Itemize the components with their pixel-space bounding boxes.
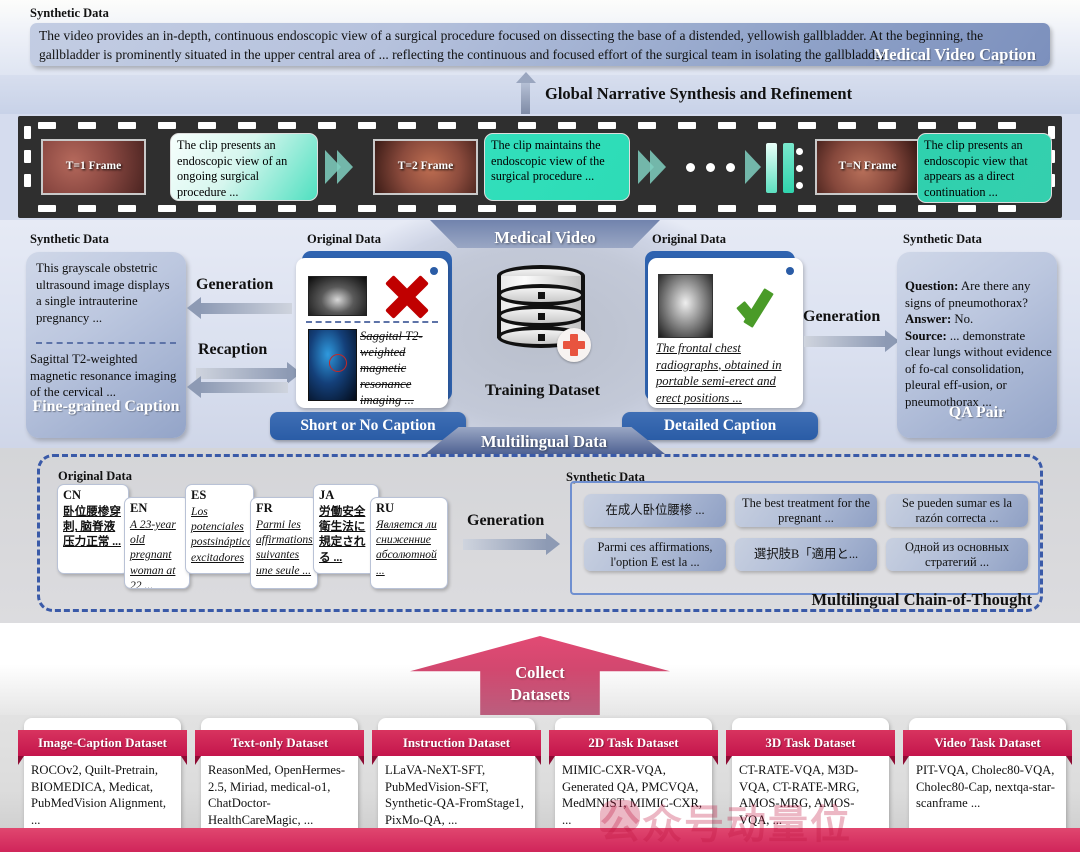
medical-video-caption-box: The video provides an in-depth, continuo…	[30, 23, 1050, 66]
dataset-card-video-task[interactable]: Video Task Dataset PIT-VQA, Cholec80-VQA…	[909, 718, 1066, 840]
fine-grained-caption-panel: This grayscale obstetric ultrasound imag…	[26, 252, 186, 438]
lang-card-en[interactable]: EN A 23-year old pregnant woman at 22 ..…	[124, 497, 190, 589]
fine-grained-caption-title: Fine-grained Caption	[26, 396, 186, 417]
qa-answer-text: No.	[951, 312, 973, 326]
lang-card-cn[interactable]: CN 卧位腰椮穿刺, 脑脊液压力正常 ...	[57, 484, 129, 574]
qa-answer-label: Answer:	[905, 312, 951, 326]
detailed-caption-tag: Detailed Caption	[622, 412, 818, 440]
training-dataset-label: Training Dataset	[455, 382, 630, 400]
check-mark-icon	[738, 284, 784, 326]
clip-caption-n: The clip presents an endoscopic view tha…	[917, 133, 1052, 203]
video-frame-2: T=2 Frame	[373, 139, 478, 195]
synth-chip-6: Одной из основных стратегий ...	[886, 538, 1028, 571]
lang-code-ja: JA	[319, 488, 373, 503]
generation-label-left: Generation	[196, 276, 273, 294]
generation-arrow-multilingual	[463, 539, 547, 550]
label-original-data-right: Original Data	[652, 232, 726, 247]
dataset-items-3: LLaVA-NeXT-SFT, PubMedVision-SFT, Synthe…	[385, 762, 529, 828]
global-narrative-zone: Global Narrative Synthesis and Refinemen…	[0, 75, 1080, 114]
global-narrative-label: Global Narrative Synthesis and Refinemen…	[545, 84, 852, 104]
ultrasound-thumbnail	[308, 276, 367, 316]
short-or-no-caption-tag: Short or No Caption	[270, 412, 466, 440]
clip-caption-1: The clip presents an endoscopic view of …	[170, 133, 318, 201]
dataset-card-3d-task[interactable]: 3D Task Dataset CT-RATE-VQA, M3D-VQA, CT…	[732, 718, 889, 840]
lang-code-cn: CN	[63, 488, 123, 503]
lang-text-cn: 卧位腰椮穿刺, 脑脊液压力正常 ...	[63, 504, 123, 550]
divider-dashed-left	[36, 342, 176, 344]
recaption-label-left: Recaption	[198, 341, 267, 359]
dataset-card-image-caption[interactable]: Image-Caption Dataset ROCOv2, Quilt-Pret…	[24, 718, 181, 840]
multilingual-cot-label: Multilingual Chain-of-Thought	[811, 590, 1032, 610]
medical-cross-icon	[557, 328, 591, 362]
short-caption-text: Saggital T2-weighted magnetic resonance …	[360, 328, 440, 408]
x-mark-icon	[384, 274, 430, 320]
qa-source-label: Source:	[905, 329, 947, 343]
generation-label-multilingual: Generation	[467, 512, 544, 530]
dataset-title-5: 3D Task Dataset	[726, 730, 895, 756]
label-synthetic-data-top: Synthetic Data	[30, 6, 109, 21]
dataset-items-6: PIT-VQA, Cholec80-VQA, Cholec80-Cap, nex…	[916, 762, 1060, 812]
collect-line-1: Collect	[515, 663, 564, 682]
dataset-card-text-only[interactable]: Text-only Dataset ReasonMed, OpenHermes-…	[201, 718, 358, 840]
dataset-title-3: Instruction Dataset	[372, 730, 541, 756]
synth-chip-1: 在成人卧位腰椮 ...	[584, 494, 726, 527]
generation-arrow-right	[804, 336, 886, 347]
fine-grained-text-1: This grayscale obstetric ultrasound imag…	[36, 260, 178, 326]
mri-annotation-circle	[329, 354, 347, 372]
lang-text-en: A 23-year old pregnant woman at 22 ...	[130, 517, 184, 589]
clip-caption-2: The clip maintains the endoscopic view o…	[484, 133, 630, 201]
label-synthetic-data-left: Synthetic Data	[30, 232, 109, 247]
recaption-arrow-left	[200, 382, 288, 393]
frame-n-label: T=N Frame	[817, 160, 918, 172]
lang-card-es[interactable]: ES Los potenciales postsinápticos excita…	[185, 484, 254, 574]
fine-grained-text-2: Sagittal T2-weighted magnetic resonance …	[30, 351, 184, 401]
detailed-caption-text: The frontal chest radiographs, obtained …	[656, 340, 796, 406]
lang-code-fr: FR	[256, 501, 312, 516]
mri-thumbnail	[308, 329, 357, 401]
filmstrip: T=1 Frame The clip presents an endoscopi…	[18, 116, 1062, 218]
lang-card-fr[interactable]: FR Parmi les affirmations suivantes une …	[250, 497, 318, 589]
recaption-arrow-right	[196, 368, 288, 379]
label-original-data-left: Original Data	[307, 232, 381, 247]
figure-root: Synthetic Data The video provides an in-…	[0, 0, 1080, 852]
training-dataset-icon	[497, 265, 585, 353]
qa-pair-title: QA Pair	[897, 404, 1057, 422]
lang-text-ja: 労働安全衛生法に規定される ...	[319, 504, 373, 565]
filmstrip-zone: T=1 Frame The clip presents an endoscopi…	[0, 114, 1080, 220]
synth-chip-3: Se pueden sumar es la razón correcta ...	[886, 494, 1028, 527]
dataset-items-1: ROCOv2, Quilt-Pretrain, BIOMEDICA, Medic…	[31, 762, 175, 828]
bottom-red-band	[0, 828, 1080, 852]
qa-pair-panel: Question: Are there any signs of pneumot…	[897, 252, 1057, 438]
status-dot-icon-left	[430, 267, 438, 275]
top-caption-zone: Synthetic Data The video provides an in-…	[0, 0, 1080, 75]
synth-chip-5: 選択肢B「適用と...	[735, 538, 877, 571]
original-data-card-left: Saggital T2-weighted magnetic resonance …	[296, 258, 448, 408]
lang-code-es: ES	[191, 488, 248, 503]
lang-code-ru: RU	[376, 501, 442, 516]
video-frame-n: T=N Frame	[815, 139, 920, 195]
dataset-title-1: Image-Caption Dataset	[18, 730, 187, 756]
dataset-items-2: ReasonMed, OpenHermes-2.5, Miriad, medic…	[208, 762, 352, 828]
lang-card-ru[interactable]: RU Является ли сниженние абсолютной ...	[370, 497, 448, 589]
generation-arrow-left	[200, 303, 292, 314]
lang-text-ru: Является ли сниженние абсолютной ...	[376, 517, 442, 578]
upward-arrow-icon	[521, 81, 530, 114]
multilingual-data-label: Multilingual Data	[444, 432, 644, 452]
frame-2-label: T=2 Frame	[375, 160, 476, 172]
medical-video-caption-badge: Medical Video Caption	[874, 45, 1036, 65]
label-synthetic-data-right: Synthetic Data	[903, 232, 982, 247]
dataset-title-4: 2D Task Dataset	[549, 730, 718, 756]
divider-dashed-card-left	[306, 321, 438, 323]
status-dot-icon-right	[786, 267, 794, 275]
dataset-title-2: Text-only Dataset	[195, 730, 364, 756]
lang-text-fr: Parmi les affirmations suivantes une seu…	[256, 517, 312, 578]
video-frame-1: T=1 Frame	[41, 139, 146, 195]
generation-label-right: Generation	[803, 308, 880, 326]
medical-video-label: Medical Video	[470, 228, 620, 248]
synth-chip-4: Parmi ces affirmations, l'option E est l…	[584, 538, 726, 571]
synth-chip-2: The best treatment for the pregnant ...	[735, 494, 877, 527]
dataset-title-6: Video Task Dataset	[903, 730, 1072, 756]
qa-question-label: Question:	[905, 279, 958, 293]
collect-datasets-label: Collect Datasets	[410, 662, 670, 706]
lang-code-en: EN	[130, 501, 184, 516]
dataset-items-5: CT-RATE-VQA, M3D-VQA, CT-RATE-MRG, AMOS-…	[739, 762, 883, 828]
watermark-chat-icon	[600, 800, 640, 832]
multilingual-synthetic-group: 在成人卧位腰椮 ... The best treatment for the p…	[570, 481, 1040, 595]
label-original-data-multilingual: Original Data	[58, 469, 132, 484]
collect-line-2: Datasets	[510, 685, 570, 704]
dataset-card-instruction[interactable]: Instruction Dataset LLaVA-NeXT-SFT, PubM…	[378, 718, 535, 840]
lang-text-es: Los potenciales postsinápticos excitador…	[191, 504, 248, 574]
chest-xray-thumbnail	[658, 274, 713, 338]
frame-1-label: T=1 Frame	[43, 160, 144, 172]
original-data-card-right: The frontal chest radiographs, obtained …	[648, 258, 803, 408]
